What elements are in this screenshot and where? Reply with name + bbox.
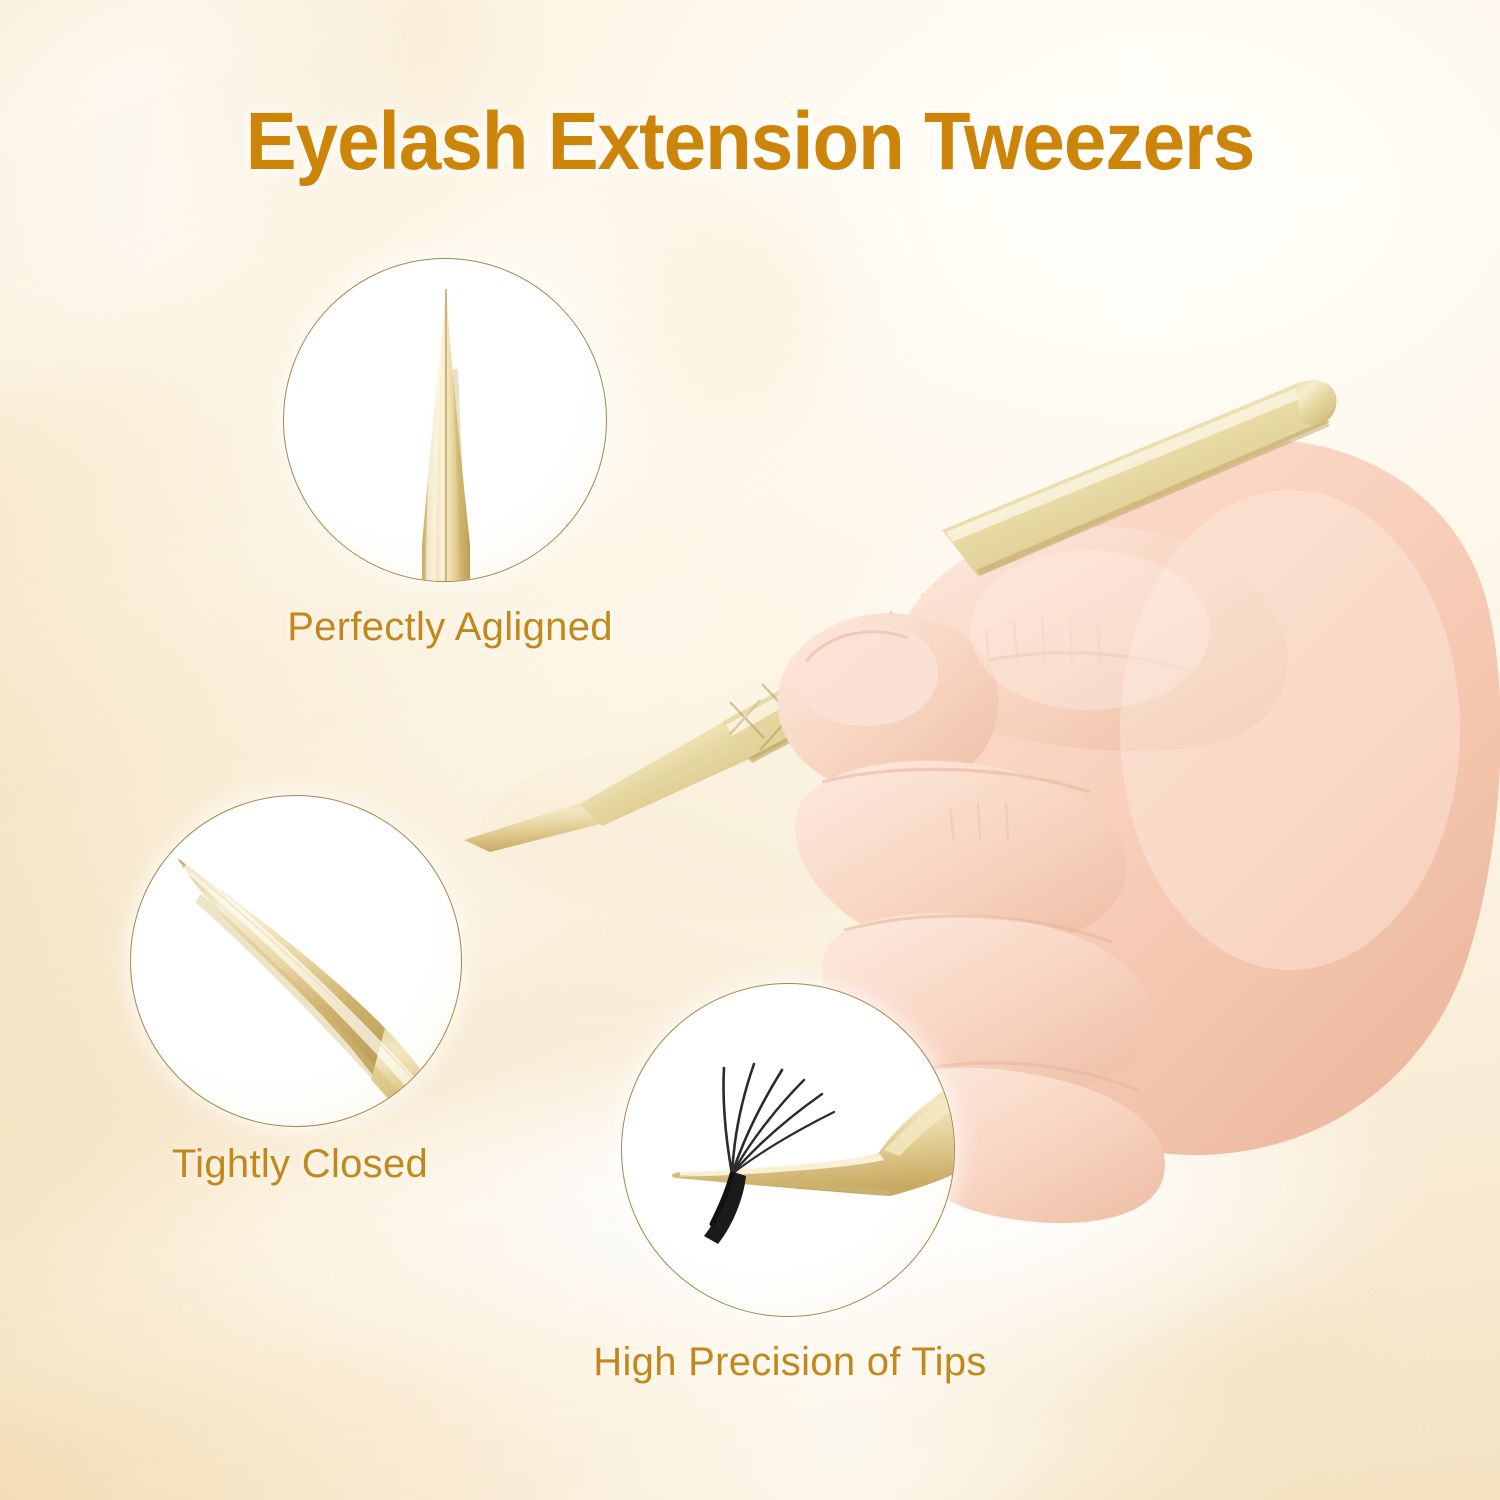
tweezer-tip-diagonal-closeup [131, 796, 461, 1126]
feature-circle-tightly-closed [130, 795, 462, 1127]
feature-caption-perfectly-aligned: Perfectly Agligned [170, 605, 730, 650]
feature-circle-perfectly-aligned [283, 258, 607, 582]
feature-caption-tightly-closed: Tightly Closed [20, 1142, 580, 1187]
tweezer-tip-vertical-closeup [284, 259, 606, 581]
feature-caption-high-precision: High Precision of Tips [500, 1340, 1080, 1385]
lash-base [704, 1172, 746, 1244]
feature-circle-high-precision [621, 983, 955, 1317]
page-title: Eyelash Extension Tweezers [53, 95, 1448, 189]
product-image-canvas: Eyelash Extension Tweezers Perfectly Agl… [0, 0, 1500, 1500]
lash-fan [723, 1064, 834, 1174]
tweezer-holding-lash-fan [622, 984, 954, 1316]
